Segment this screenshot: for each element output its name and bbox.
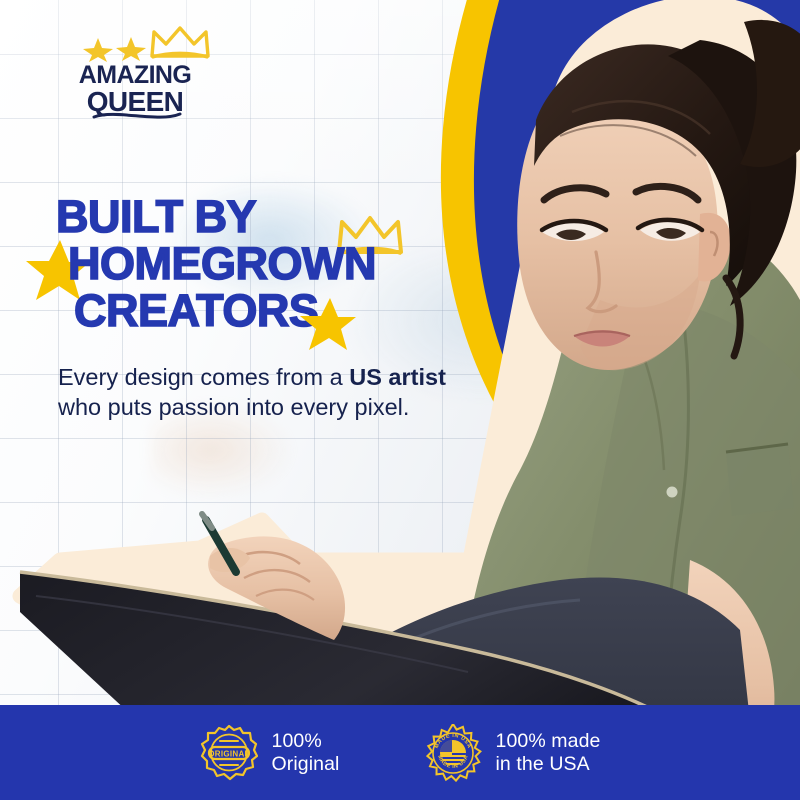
page-title: BUILT BY HOMEGROWN CREATORS [56, 193, 476, 334]
brand-logo[interactable]: AMAZING QUEEN [50, 26, 220, 122]
headline-line-3: CREATORS [74, 287, 476, 334]
body-copy-part-2: who puts passion into every pixel. [58, 394, 409, 420]
body-copy-emphasis: US artist [349, 364, 446, 390]
trust-badge-label: 100% Original [272, 730, 340, 776]
body-copy-part-1: Every design comes from a [58, 364, 349, 390]
original-seal-icon: ORIGINAL [200, 724, 258, 782]
made-in-usa-seal-icon: MADE IN USA MADE IN USA [424, 724, 482, 782]
brand-logo-wordmark: AMAZING QUEEN [50, 57, 220, 121]
seal-text: ORIGINAL [208, 749, 250, 758]
trust-banner: ORIGINAL 100% Original [0, 705, 800, 800]
promo-poster: AMAZING QUEEN BUILT BY HOMEGROWN CREATOR… [0, 0, 800, 800]
body-copy: Every design comes from a US artist who … [58, 362, 458, 422]
headline-line-1: BUILT BY [56, 193, 476, 240]
trust-badge-original: ORIGINAL 100% Original [200, 724, 340, 782]
star-icon [300, 296, 356, 352]
trust-badge-usa: MADE IN USA MADE IN USA 100% made in the… [424, 724, 601, 782]
logo-line-2: QUEEN [87, 86, 184, 117]
trust-badge-label: 100% made in the USA [496, 730, 601, 776]
headline-line-2: HOMEGROWN [68, 240, 476, 287]
logo-line-1: AMAZING [79, 61, 191, 89]
